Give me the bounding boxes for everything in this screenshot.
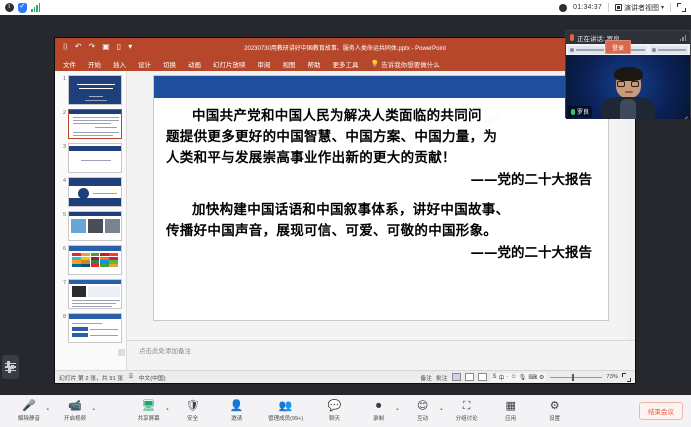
slide-editor: 中国共产党和中国人民为解决人类面临的共同问 题提供更多更好的中国智慧、中国方案、… (127, 71, 635, 370)
thumbnail-preview[interactable] (68, 279, 122, 309)
tab-animations[interactable]: 动画 (188, 59, 201, 69)
slide-counter: 幻灯片 第 2 张，共 91 张 (59, 373, 123, 382)
tell-me-label: 告诉我你想要做什么 (381, 59, 440, 69)
thumbnail-preview[interactable] (68, 211, 122, 241)
slide-text-body[interactable]: 中国共产党和中国人民为解决人类面临的共同问 题提供更多更好的中国智慧、中国方案、… (154, 98, 608, 264)
slide-citation-2: ——党的二十大报告 (166, 242, 596, 264)
meeting-toolbar: 🎤 解除静音 ▴ 📹 开启视频 ▴ 🖥 共享屏幕 ▴ 🛡 安全 👤 (0, 395, 691, 427)
emoji-icon[interactable]: ☺ (511, 374, 517, 380)
meeting-timer: 01:34:37 (573, 4, 602, 11)
tab-transitions[interactable]: 切换 (163, 59, 176, 69)
overlay-chip (650, 46, 688, 54)
thumbnail-number: 1 (57, 75, 66, 83)
clock-icon (559, 4, 567, 12)
tab-review[interactable]: 审阅 (258, 59, 271, 69)
zoom-percent[interactable]: 73% (606, 374, 618, 380)
fit-slide-icon[interactable] (622, 373, 631, 382)
network-signal-icon (680, 35, 687, 41)
security-shield-icon: 🛡 (186, 400, 200, 413)
thumbnail-scrollbar[interactable] (118, 349, 125, 356)
meeting-screen: 01:34:37 演讲者视图 ▾ ⌷ ↶ ↷ ▣ ▯ ▾ (0, 0, 691, 427)
slide-header-band (154, 76, 608, 98)
chevron-up-icon[interactable]: ▴ (46, 406, 49, 412)
undo-icon[interactable]: ↶ (75, 43, 82, 51)
thumbnail-number: 8 (57, 313, 66, 321)
invite-label: 邀请 (231, 414, 242, 422)
thumbnail-preview[interactable] (68, 245, 122, 275)
view-normal-button[interactable] (452, 373, 461, 381)
save-icon[interactable]: ⌷ (63, 43, 68, 51)
video-feed[interactable]: 罗良 (566, 44, 690, 119)
chevron-down-icon: ▾ (661, 4, 664, 11)
slider-line-icon (5, 370, 16, 372)
breakout-rooms-label: 分组讨论 (456, 414, 478, 422)
powerpoint-window: ⌷ ↶ ↷ ▣ ▯ ▾ 20230730用教研讲好中国教育故事、服务人类命运共同… (55, 38, 635, 383)
os-status-left (5, 3, 40, 13)
zoom-slider[interactable] (550, 377, 602, 378)
thumbnail-number: 5 (57, 211, 66, 219)
meeting-toolbar-center: 🖥 共享屏幕 ▴ 🛡 安全 👤 邀请 👥 管理成员(99+) 💬 聊天 ⏺ (128, 400, 576, 423)
powerpoint-body: 1 2 (55, 71, 635, 370)
spell-check-icon[interactable]: ⌸ (129, 374, 132, 381)
quick-access-toolbar: ⌷ ↶ ↷ ▣ ▯ ▾ (59, 43, 132, 51)
apps-button[interactable]: ▦ 应用 (490, 400, 532, 423)
ribbon-tabs: 文件 开始 插入 设计 切换 动画 幻灯片放映 审阅 视图 帮助 更多工具 💡 … (55, 56, 635, 71)
tab-file[interactable]: 文件 (63, 59, 76, 69)
shield-check-icon[interactable] (18, 3, 27, 13)
thumbnail-number: 3 (57, 143, 66, 151)
thumbnail-item[interactable]: 2 (57, 109, 124, 139)
signal-bars-icon (31, 3, 40, 12)
presenter-avatar (601, 70, 655, 119)
presenter-view-icon (615, 4, 622, 11)
thumbnail-item[interactable]: 1 (57, 75, 124, 105)
info-icon[interactable] (5, 3, 14, 12)
chat-button[interactable]: 💬 聊天 (314, 400, 356, 423)
current-slide[interactable]: 中国共产党和中国人民为解决人类面临的共同问 题提供更多更好的中国智慧、中国方案、… (153, 75, 609, 321)
more-icon[interactable]: ▾ (128, 43, 132, 51)
settings-gear-icon: ⚙ (550, 400, 560, 413)
mute-toggle-button[interactable]: 🎤 解除静音 ▴ (8, 400, 50, 423)
thumbnail-preview[interactable] (68, 143, 122, 173)
video-toggle-label: 开启视频 (64, 414, 86, 422)
manage-participants-icon: 👥 (279, 400, 293, 413)
record-label: 录制 (373, 414, 384, 422)
slide-citation-1: ——党的二十大报告 (166, 169, 596, 191)
tab-view[interactable]: 视图 (283, 59, 296, 69)
share-screen-button[interactable]: 🖥 共享屏幕 ▴ (128, 400, 170, 423)
reactions-icon: 😊 (417, 400, 428, 413)
slide-paragraph2-line2: 传播好中国声音，展现可信、可爱、可敬的中国形象。 (166, 221, 596, 242)
invite-person-icon: 👤 (230, 400, 244, 413)
share-screen-icon: 🖥 (142, 400, 156, 413)
powerpoint-title-bar: ⌷ ↶ ↷ ▣ ▯ ▾ 20230730用教研讲好中国教育故事、服务人类命运共同… (55, 38, 635, 56)
microphone-muted-icon: 🎤 (22, 400, 36, 413)
divider (670, 3, 671, 12)
thumbnail-preview[interactable] (68, 75, 122, 105)
thumbnail-number: 4 (57, 177, 66, 185)
sign-in-button[interactable]: 登录 (605, 40, 631, 54)
meeting-toolbar-left: 🎤 解除静音 ▴ 📹 开启视频 ▴ (8, 400, 96, 423)
redo-icon[interactable]: ↷ (89, 43, 96, 51)
mute-toggle-label: 解除静音 (18, 414, 40, 422)
os-status-bar: 01:34:37 演讲者视图 ▾ (0, 0, 691, 15)
reactions-label: 互动 (417, 414, 428, 422)
thumbnail-preview-selected[interactable] (68, 109, 122, 139)
slide-spacer (166, 191, 596, 200)
participant-name: 罗良 (577, 107, 589, 116)
tab-insert[interactable]: 插入 (113, 59, 126, 69)
tell-me-search[interactable]: 💡 告诉我你想要做什么 (371, 59, 440, 69)
slide-paragraph1-line1: 中国共产党和中国人民为解决人类面临的共同问 (166, 106, 596, 127)
view-sorter-button[interactable] (465, 373, 474, 381)
notes-pane[interactable]: 点击此处添加备注 (127, 340, 635, 370)
end-meeting-button[interactable]: 结束会议 (639, 402, 683, 420)
resize-handle-icon[interactable] (681, 110, 688, 117)
invite-button[interactable]: 👤 邀请 (216, 400, 258, 423)
settings-button[interactable]: ⚙ 设置 (534, 400, 576, 423)
thumbnail-item[interactable]: 4 (57, 177, 124, 207)
chat-bubble-icon: 💬 (328, 400, 342, 413)
security-button[interactable]: 🛡 安全 (172, 400, 214, 423)
print-icon[interactable]: ▯ (117, 43, 121, 51)
punctuation-icon[interactable]: · (507, 374, 509, 380)
voice-icon[interactable]: 🎙 (519, 374, 527, 381)
presenter-view-switch[interactable]: 演讲者视图 ▾ (615, 3, 664, 13)
annotation-toolbar-handle[interactable] (2, 355, 19, 379)
reactions-button[interactable]: 😊 互动 ▴ (402, 400, 444, 423)
thumbnail-item[interactable]: 6 (57, 245, 124, 275)
record-button[interactable]: ⏺ 录制 ▴ (358, 400, 400, 423)
thumbnail-number: 6 (57, 245, 66, 253)
avatar-mouth (625, 91, 633, 93)
camera-off-icon: 📹 (68, 400, 82, 413)
divider (608, 3, 609, 12)
avatar-shirt (620, 99, 636, 119)
tab-slideshow[interactable]: 幻灯片放映 (213, 59, 246, 69)
chevron-up-icon[interactable]: ▴ (440, 406, 443, 412)
glasses-icon (617, 81, 639, 87)
chevron-up-icon[interactable]: ▴ (92, 406, 95, 412)
thumbnail-preview[interactable] (68, 177, 122, 207)
comments-toggle[interactable]: 批注 (436, 373, 448, 382)
avatar-head (616, 70, 641, 98)
slide-canvas[interactable]: 中国共产党和中国人民为解决人类面临的共同问 题提供更多更好的中国智慧、中国方案、… (127, 71, 635, 340)
chevron-up-icon[interactable]: ▴ (166, 406, 169, 412)
thumbnail-item[interactable]: 5 (57, 211, 124, 241)
microphone-icon (570, 34, 574, 41)
toolbox-icon[interactable]: ⚙ (539, 374, 544, 381)
chevron-up-icon[interactable]: ▴ (396, 406, 399, 412)
document-title: 20230730用教研讲好中国教育故事、服务人类命运共同体.pptx - Pow… (55, 43, 635, 52)
slide-paragraph1-line3: 人类和平与发展崇高事业作出新的更大的贡献！ (166, 148, 596, 169)
tab-help[interactable]: 帮助 (308, 59, 321, 69)
manage-participants-label: 管理成员(99+) (268, 414, 303, 422)
thumbnail-number: 7 (57, 279, 66, 287)
ime-mode-label[interactable]: 中 (499, 373, 505, 382)
settings-label: 设置 (549, 414, 560, 422)
overlay-chip (568, 46, 606, 54)
slide-paragraph1-line2: 题提供更多更好的中国智慧、中国方案、中国力量，为 (166, 127, 596, 148)
share-screen-label: 共享屏幕 (138, 414, 160, 422)
slide-thumbnail-panel[interactable]: 1 2 (55, 71, 127, 370)
microphone-active-icon (571, 109, 575, 115)
participant-name-tag: 罗良 (568, 106, 592, 117)
powerpoint-status-bar: 幻灯片 第 2 张，共 91 张 ⌸ 中文(中国) 备注 批注 S 中 · ☺ … (55, 370, 635, 383)
breakout-rooms-button[interactable]: ⛶ 分组讨论 (446, 400, 488, 423)
breakout-rooms-icon: ⛶ (463, 400, 471, 413)
present-icon[interactable]: ▣ (102, 43, 110, 51)
sogou-logo-icon: S (493, 374, 497, 380)
thumbnail-preview[interactable] (68, 313, 122, 343)
tab-home[interactable]: 开始 (88, 59, 101, 69)
language-label[interactable]: 中文(中国) (139, 373, 166, 382)
chat-label: 聊天 (329, 414, 340, 422)
avatar-hair (614, 67, 643, 81)
thumbnail-item[interactable]: 8 (57, 313, 124, 343)
presenter-view-label: 演讲者视图 (624, 3, 659, 13)
tab-more-tools[interactable]: 更多工具 (333, 59, 359, 69)
os-status-right: 01:34:37 演讲者视图 ▾ (559, 3, 686, 13)
thumbnail-item[interactable]: 3 (57, 143, 124, 173)
shared-screen-stage: ⌷ ↶ ↷ ▣ ▯ ▾ 20230730用教研讲好中国教育故事、服务人类命运共同… (0, 15, 691, 395)
thumbnail-number: 2 (57, 109, 66, 117)
avatar-body (601, 97, 655, 119)
slide-paragraph2-line1: 加快构建中国话语和中国叙事体系，讲好中国故事、 (166, 200, 596, 221)
video-toggle-button[interactable]: 📹 开启视频 ▴ (54, 400, 96, 423)
notes-toggle[interactable]: 备注 (420, 373, 432, 382)
fullscreen-icon[interactable] (677, 3, 686, 12)
view-reading-button[interactable] (478, 373, 487, 381)
keyboard-icon[interactable]: ⌨ (528, 374, 537, 381)
manage-participants-button[interactable]: 👥 管理成员(99+) (260, 400, 312, 423)
status-right-cluster: 备注 批注 S 中 · ☺ 🎙 ⌨ ⚙ 73% (420, 373, 631, 382)
security-label: 安全 (187, 414, 198, 422)
apps-grid-icon: ▦ (505, 400, 515, 413)
thumbnail-item[interactable]: 7 (57, 279, 124, 309)
apps-label: 应用 (505, 414, 516, 422)
lightbulb-icon: 💡 (371, 60, 380, 68)
record-icon: ⏺ (376, 400, 382, 413)
sogou-ime-bar[interactable]: S 中 · ☺ 🎙 ⌨ ⚙ (491, 373, 547, 382)
tab-design[interactable]: 设计 (138, 59, 151, 69)
